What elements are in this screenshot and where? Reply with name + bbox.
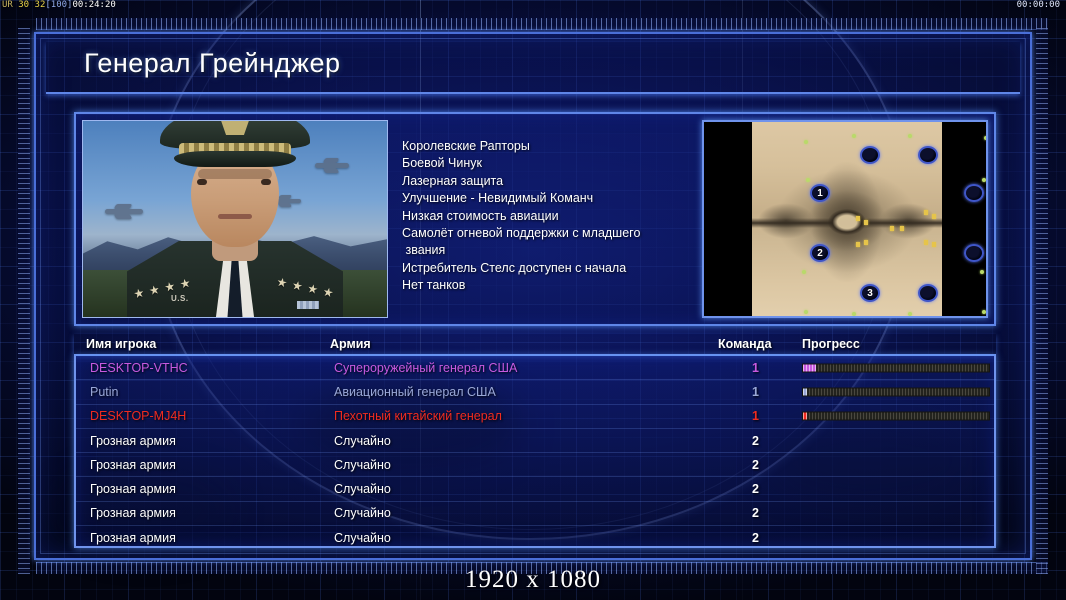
map-tech-building-marker [982, 178, 986, 182]
hud-bracket: [100] [45, 0, 72, 10]
table-row[interactable]: DESKTOP-VTHCСупероружейный генерал США1 [76, 356, 994, 380]
title-bar: Генерал Грейнджер [46, 42, 1020, 94]
page-title: Генерал Грейнджер [84, 48, 341, 79]
player-team[interactable]: 2 [752, 482, 759, 496]
player-list-header: Имя игрока Армия Команда Прогресс [74, 334, 996, 356]
player-name: Грозная армия [90, 531, 176, 545]
map-spawn-point[interactable] [860, 146, 880, 164]
map-oil-derrick-marker [864, 240, 868, 245]
map-tech-building-marker [984, 136, 988, 140]
player-name: Грозная армия [90, 434, 176, 448]
map-tech-building-marker [802, 270, 806, 274]
uniform-us-tag: U.S. [171, 294, 189, 303]
ability-line: Королевские Рапторы [402, 138, 700, 155]
table-row[interactable]: DESKTOP-MJ4HПехотный китайский генерал1 [76, 405, 994, 429]
general-ability-list: Королевские РапторыБоевой ЧинукЛазерная … [402, 138, 700, 295]
map-preview: 123 [702, 120, 988, 318]
ruler-left [18, 28, 30, 574]
player-team[interactable]: 2 [752, 458, 759, 472]
map-spawn-point-2[interactable]: 2 [810, 244, 830, 262]
player-team[interactable]: 1 [752, 409, 759, 423]
map-oil-derrick-marker [864, 220, 868, 225]
general-portrait: ★★★★ ★★★★ U.S. [82, 120, 388, 318]
resolution-watermark: 1920 x 1080 [0, 566, 1066, 594]
map-tech-building-marker [806, 178, 810, 182]
ability-line: Лазерная защита [402, 173, 700, 190]
map-oil-derrick-marker [924, 240, 928, 245]
figure-eye-left [197, 179, 207, 185]
map-spawn-point[interactable] [964, 244, 984, 262]
game-lobby-screen: UR 30 32[100]00:24:20 00:00:00 Генерал Г… [0, 0, 1066, 600]
player-army[interactable]: Пехотный китайский генерал [334, 409, 502, 423]
map-spawn-point-3[interactable]: 3 [860, 284, 880, 302]
player-army[interactable]: Авиационный генерал США [334, 385, 496, 399]
table-row[interactable]: Грозная армияСлучайно2 [76, 429, 994, 453]
map-oil-derrick-marker [932, 214, 936, 219]
player-team[interactable]: 2 [752, 434, 759, 448]
player-name: DESKTOP-MJ4H [90, 409, 186, 423]
column-header-name: Имя игрока [86, 337, 156, 351]
column-header-progress: Прогресс [802, 337, 860, 351]
ability-line: Улучшение - Невидимый Команч [402, 190, 700, 207]
map-tech-building-marker [980, 270, 984, 274]
table-row[interactable]: Грозная армияСлучайно2 [76, 453, 994, 477]
player-army[interactable]: Случайно [334, 434, 391, 448]
player-army[interactable]: Случайно [334, 531, 391, 545]
map-spawn-point[interactable] [918, 146, 938, 164]
table-row[interactable]: Грозная армияСлучайно2 [76, 477, 994, 501]
column-header-team: Команда [718, 337, 772, 351]
player-team[interactable]: 1 [752, 385, 759, 399]
player-progress-bar [802, 363, 990, 372]
map-central-ridge [752, 218, 942, 228]
map-tech-building-marker [852, 134, 856, 138]
player-name: Грозная армия [90, 482, 176, 496]
player-army[interactable]: Случайно [334, 458, 391, 472]
map-spawn-point[interactable] [918, 284, 938, 302]
map-tech-building-marker [982, 310, 986, 314]
player-team[interactable]: 1 [752, 361, 759, 375]
player-progress-fill [803, 388, 807, 395]
hud-timer: 00:24:20 [72, 0, 115, 10]
ability-line: Самолёт огневой поддержки с младшего [402, 225, 700, 242]
column-header-army: Армия [330, 337, 371, 351]
map-tech-building-marker [804, 310, 808, 314]
lobby-frame: Генерал Грейнджер [34, 32, 1032, 560]
hud-value-2: 32 [35, 0, 46, 10]
map-oil-derrick-marker [932, 242, 936, 247]
ability-line: Низкая стоимость авиации [402, 208, 700, 225]
map-tech-building-marker [852, 312, 856, 316]
map-oil-derrick-marker [856, 216, 860, 221]
player-army[interactable]: Супероружейный генерал США [334, 361, 517, 375]
figure-eye-right [261, 179, 271, 185]
map-tech-building-marker [908, 134, 912, 138]
debug-hud-right: 00:00:00 [1017, 0, 1060, 10]
ruler-top [36, 18, 1048, 30]
table-row[interactable]: Грозная армияСлучайно2 [76, 502, 994, 526]
ability-line: Истребитель Стелс доступен с начала [402, 260, 700, 277]
player-army[interactable]: Случайно [334, 506, 391, 520]
player-team[interactable]: 2 [752, 531, 759, 545]
player-list-body: DESKTOP-VTHCСупероружейный генерал США1P… [74, 356, 996, 548]
general-info-panel: ★★★★ ★★★★ U.S. Королевские РапторыБоевой… [74, 112, 996, 326]
hud-label: UR [2, 0, 13, 10]
table-row[interactable]: PutinАвиационный генерал США1 [76, 380, 994, 404]
ability-line: звания [402, 242, 700, 259]
map-spawn-point-1[interactable]: 1 [810, 184, 830, 202]
map-oil-derrick-marker [900, 226, 904, 231]
map-oil-derrick-marker [856, 242, 860, 247]
figure-brow [198, 169, 272, 179]
player-name: Putin [90, 385, 119, 399]
ability-line: Боевой Чинук [402, 155, 700, 172]
hud-value-1: 30 [18, 0, 29, 10]
player-progress-bar [802, 412, 990, 421]
map-spawn-point[interactable] [964, 184, 984, 202]
map-tech-building-marker [908, 312, 912, 316]
player-progress-bar [802, 387, 990, 396]
ability-line: Нет танков [402, 277, 700, 294]
table-row[interactable]: Грозная армияСлучайно2 [76, 526, 994, 548]
figure-mouth [218, 214, 252, 219]
player-army[interactable]: Случайно [334, 482, 391, 496]
player-team[interactable]: 2 [752, 506, 759, 520]
cap-visor [174, 151, 296, 167]
map-oil-derrick-marker [924, 210, 928, 215]
map-oil-derrick-marker [890, 226, 894, 231]
player-progress-fill [803, 364, 816, 371]
debug-hud-left: UR 30 32[100]00:24:20 [2, 0, 116, 10]
uniform-ribbon-bar [297, 301, 319, 309]
player-name: Грозная армия [90, 506, 176, 520]
player-list: Имя игрока Армия Команда Прогресс DESKTO… [74, 334, 996, 548]
player-name: DESKTOP-VTHC [90, 361, 188, 375]
player-progress-fill [803, 413, 807, 420]
player-name: Грозная армия [90, 458, 176, 472]
ruler-right [1036, 28, 1048, 574]
general-figure: ★★★★ ★★★★ U.S. [115, 120, 355, 317]
map-tech-building-marker [804, 140, 808, 144]
